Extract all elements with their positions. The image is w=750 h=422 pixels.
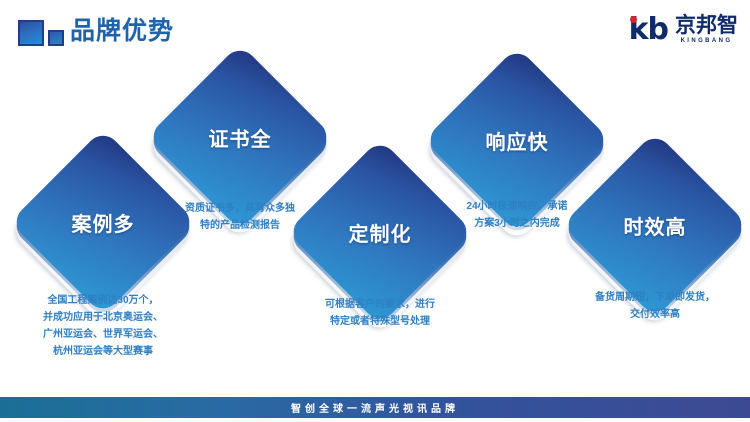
header-square-large-icon (18, 20, 44, 46)
feature-caption-5: 备货周期短，下单即发货，交付效率高 (555, 289, 750, 323)
feature-caption-1: 全国工程案例达30万个，并成功应用于北京奥运会、广州亚运会、世界军运会、杭州亚运… (3, 292, 203, 360)
logo-english-name: KINGBANG (675, 37, 738, 45)
feature-label-5: 时效高 (589, 159, 721, 291)
feature-diamond-5[interactable]: 时效高 (589, 159, 721, 291)
logo-mark-text: kb (629, 15, 668, 45)
logo-chinese-name: 京邦智 (675, 15, 738, 37)
logo-red-dot-icon (630, 16, 637, 23)
feature-diamond-3[interactable]: 定制化 (314, 166, 446, 298)
brand-logo: kb 京邦智 KINGBANG (629, 13, 738, 47)
feature-label-3: 定制化 (314, 166, 446, 298)
slide-root: 品牌优势 kb 京邦智 KINGBANG 案例多 全国工程案例达30万个，并成功… (0, 0, 750, 422)
feature-diamond-4[interactable]: 响应快 (451, 74, 583, 206)
header-square-small-icon (48, 30, 64, 46)
feature-label-4: 响应快 (451, 74, 583, 206)
slide-footer: 智创全球一流声光视讯品牌 (0, 397, 750, 418)
slide-header: 品牌优势 kb 京邦智 KINGBANG (0, 0, 750, 60)
feature-label-2: 证书全 (174, 71, 306, 203)
feature-diamond-2[interactable]: 证书全 (174, 71, 306, 203)
page-title: 品牌优势 (70, 15, 174, 47)
feature-caption-3: 可根据客户的要求，进行特定或者特殊型号处理 (280, 296, 480, 330)
footer-slogan: 智创全球一流声光视讯品牌 (291, 400, 459, 415)
logo-text-block: 京邦智 KINGBANG (675, 15, 738, 45)
